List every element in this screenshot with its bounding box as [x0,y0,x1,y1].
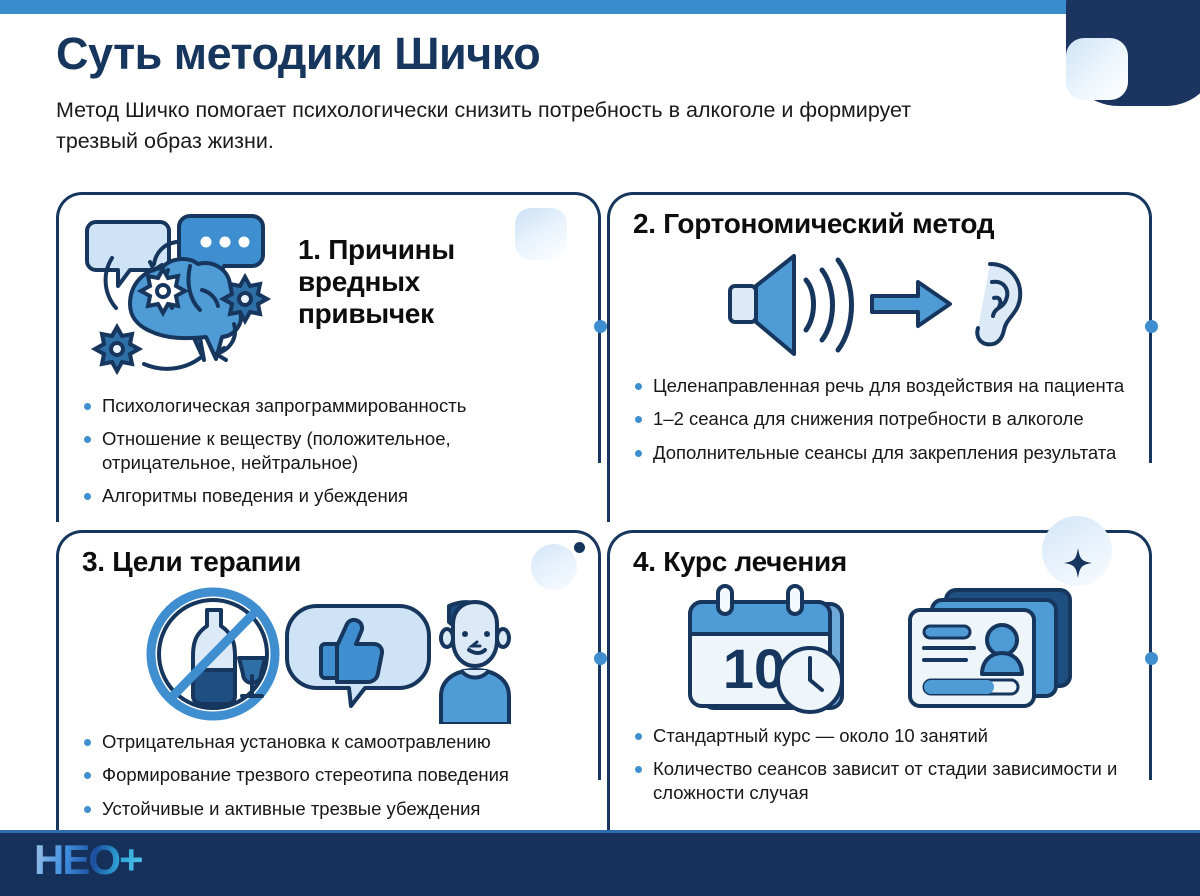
header: Суть методики Шичко Метод Шичко помогает… [56,30,1056,156]
footer: HEO+ [0,830,1200,896]
page-subtitle: Метод Шичко помогает психологически сниз… [56,95,916,156]
list-item: Целенаправленная речь для воздействия на… [633,374,1130,397]
list-item: Алгоритмы поведения и убеждения [82,484,579,507]
brain-gears-speech-bubbles-icon [82,208,292,378]
card-bullet-list: Психологическая запрограммированность От… [82,394,579,507]
list-item: Психологическая запрограммированность [82,394,579,417]
footer-accent-line [0,830,1200,833]
list-item: Количество сеансов зависит от стадии зав… [633,757,1130,804]
speaker-arrow-ear-icon [633,250,1130,360]
list-item: Дополнительные сеансы для закрепления ре… [633,441,1130,464]
calendar-clock-cards-icon: 10 [633,584,1130,714]
page-title: Суть методики Шичко [56,30,1056,77]
card-title: 2. Гортономический метод [633,208,1130,240]
list-item: Отношение к веществу (положительное, отр… [82,427,579,474]
card-bullet-list: Отрицательная установка к самоотравлению… [82,730,579,820]
card-title: 3. Цели терапии [82,546,579,578]
card-therapy-goals: 3. Цели терапии [56,530,601,835]
card-title: 1. Причины вредных привычек [298,234,528,330]
list-item: 1–2 сеанса для снижения потребности в ал… [633,407,1130,430]
top-accent-bar [0,0,1098,14]
list-item: Формирование трезвого стереотипа поведен… [82,763,579,786]
card-bullet-list: Целенаправленная речь для воздействия на… [633,374,1130,464]
no-alcohol-thumbs-up-person-icon [82,584,579,724]
calendar-day-number: 10 [722,637,784,700]
list-item: Устойчивые и активные трезвые убеждения [82,797,579,820]
card-gortonomic-method: 2. Гортономический метод [607,192,1152,522]
brand-logo: HEO+ [34,839,142,881]
card-title: 4. Курс лечения [633,546,1130,578]
cards-grid: 1. Причины вредных привычек Психологичес… [56,192,1152,835]
card-bullet-list: Стандартный курс — около 10 занятий Коли… [633,724,1130,804]
list-item: Стандартный курс — около 10 занятий [633,724,1130,747]
corner-gradient-square [1066,38,1128,100]
card-treatment-course: 4. Курс лечения 10 [607,530,1152,835]
card-causes: 1. Причины вредных привычек Психологичес… [56,192,601,522]
list-item: Отрицательная установка к самоотравлению [82,730,579,753]
